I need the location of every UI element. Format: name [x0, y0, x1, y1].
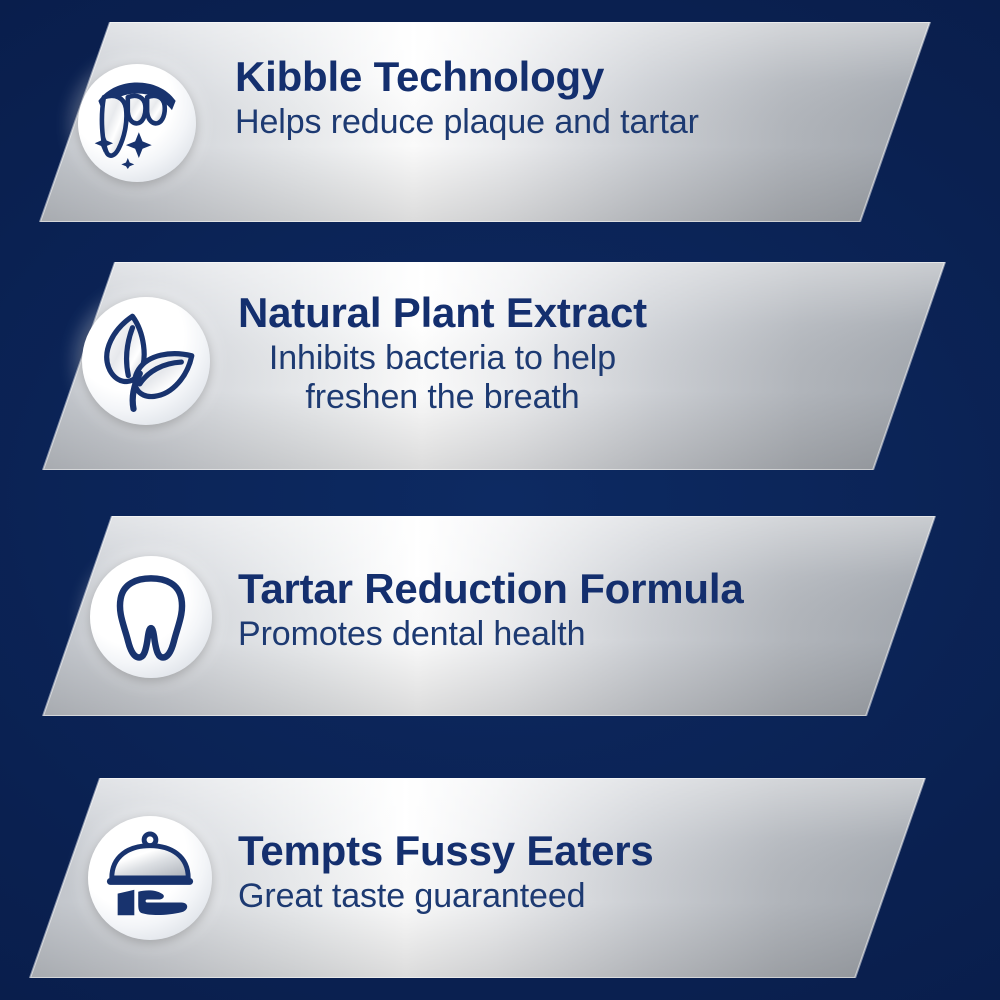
feature-subtitle: Promotes dental health [238, 615, 743, 654]
feature-row-tempts-fussy-eaters: Tempts Fussy Eaters Great taste guarante… [0, 778, 1000, 978]
feature-text-tempts: Tempts Fussy Eaters Great taste guarante… [238, 830, 654, 916]
feature-row-natural-plant-extract: Natural Plant Extract Inhibits bacteria … [0, 262, 1000, 470]
feature-row-kibble-technology: Kibble Technology Helps reduce plaque an… [0, 22, 1000, 222]
icon-badge-plant [82, 297, 210, 425]
leaves-icon [94, 309, 198, 413]
feature-title: Tempts Fussy Eaters [238, 830, 654, 873]
feature-subtitle-line: Great taste guaranteed [238, 877, 654, 916]
feature-subtitle-line: Helps reduce plaque and tartar [235, 103, 699, 142]
dog-food-feature-infographic: Kibble Technology Helps reduce plaque an… [0, 0, 1000, 1000]
feature-subtitle-line: freshen the breath [238, 378, 647, 417]
cloche-serving-hand-icon [101, 829, 199, 927]
icon-badge-kibble [78, 64, 196, 182]
icon-badge-tooth [90, 556, 212, 678]
feature-row-tartar-reduction-formula: Tartar Reduction Formula Promotes dental… [0, 516, 1000, 716]
dog-teeth-sparkle-icon [91, 77, 183, 169]
feature-text-tartar: Tartar Reduction Formula Promotes dental… [238, 568, 743, 654]
feature-title: Kibble Technology [235, 56, 699, 99]
feature-subtitle-line: Inhibits bacteria to help [238, 339, 647, 378]
feature-text-plant: Natural Plant Extract Inhibits bacteria … [238, 292, 647, 418]
tooth-icon [111, 571, 191, 663]
feature-subtitle: Helps reduce plaque and tartar [235, 103, 699, 142]
feature-subtitle: Great taste guaranteed [238, 877, 654, 916]
feature-subtitle: Inhibits bacteria to help freshen the br… [238, 339, 647, 418]
icon-badge-cloche [88, 816, 212, 940]
feature-title: Tartar Reduction Formula [238, 568, 743, 611]
feature-text-kibble: Kibble Technology Helps reduce plaque an… [235, 56, 699, 142]
feature-subtitle-line: Promotes dental health [238, 615, 743, 654]
feature-title: Natural Plant Extract [238, 292, 647, 335]
